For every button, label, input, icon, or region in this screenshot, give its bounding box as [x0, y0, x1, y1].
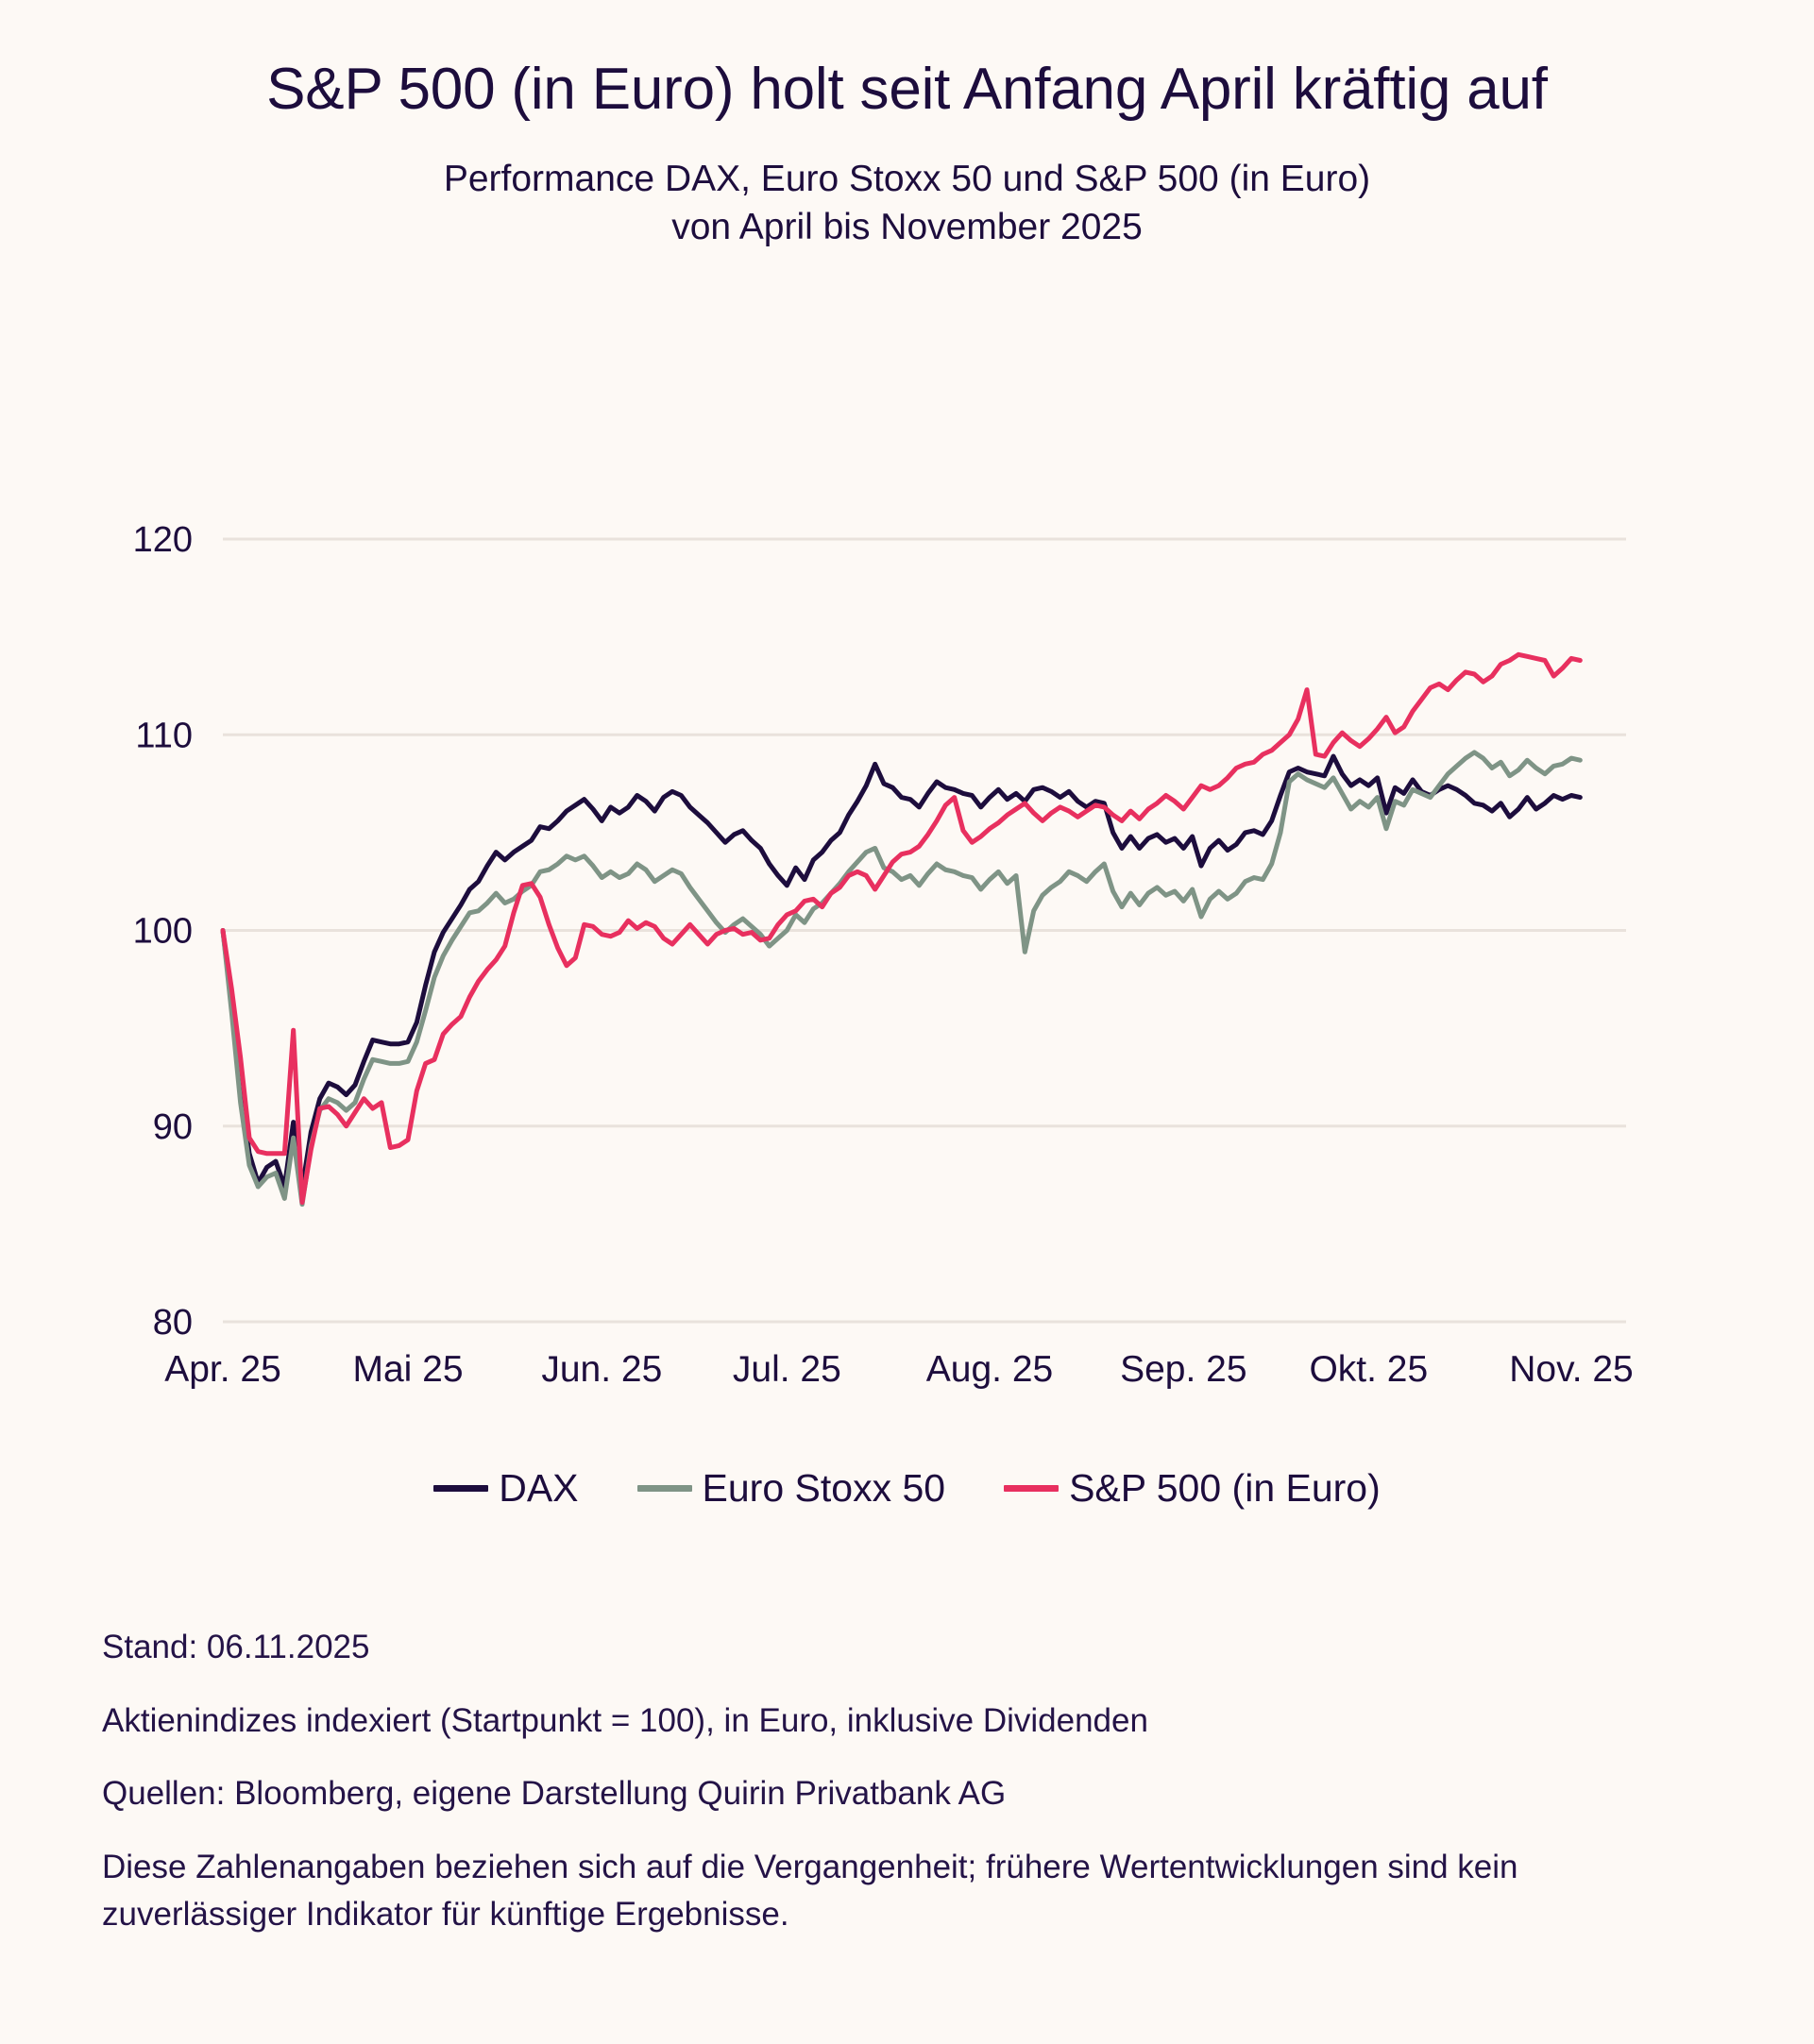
chart-plot-area: 8090100110120 Apr. 25Mai 25Jun. 25Jul. 2… — [0, 472, 1814, 1426]
legend-item-label: Euro Stoxx 50 — [703, 1469, 946, 1508]
legend-item-label: DAX — [499, 1469, 578, 1508]
x-axis-tick-label: Okt. 25 — [1309, 1349, 1428, 1390]
series-line-s-p-500-in-euro — [223, 654, 1580, 1202]
x-axis-tick-label: Jul. 25 — [733, 1349, 841, 1390]
footnote-line: Aktienindizes indexiert (Startpunkt = 10… — [102, 1698, 1556, 1745]
x-axis-tick-label: Aug. 25 — [926, 1349, 1053, 1390]
footnote-line: Stand: 06.11.2025 — [102, 1624, 1556, 1671]
chart-subtitle: Performance DAX, Euro Stoxx 50 und S&P 5… — [237, 156, 1578, 251]
chart-subtitle-line-1: Performance DAX, Euro Stoxx 50 und S&P 5… — [237, 156, 1578, 204]
legend-color-swatch-icon — [433, 1485, 488, 1492]
x-axis-tick-label: Jun. 25 — [541, 1349, 662, 1390]
y-axis-tick-label: 100 — [133, 912, 193, 952]
y-axis-tick-label: 120 — [133, 520, 193, 560]
footnote-line: Diese Zahlenangaben beziehen sich auf di… — [102, 1844, 1556, 1937]
x-axis-tick-label: Sep. 25 — [1120, 1349, 1246, 1390]
chart-footnotes: Stand: 06.11.2025Aktienindizes indexiert… — [102, 1624, 1707, 1937]
x-axis-tick-label: Nov. 25 — [1509, 1349, 1634, 1390]
y-axis-tick-label: 90 — [153, 1107, 193, 1147]
legend-item[interactable]: S&P 500 (in Euro) — [1004, 1469, 1381, 1508]
legend-color-swatch-icon — [637, 1485, 692, 1492]
y-axis-tick-labels: 8090100110120 — [133, 520, 193, 1343]
line-chart-svg: 8090100110120 Apr. 25Mai 25Jun. 25Jul. 2… — [0, 472, 1814, 1426]
y-axis-tick-label: 110 — [135, 716, 193, 755]
footnote-line: Quellen: Bloomberg, eigene Darstellung Q… — [102, 1770, 1556, 1817]
x-axis-tick-label: Mai 25 — [352, 1349, 463, 1390]
legend-item[interactable]: DAX — [433, 1469, 578, 1508]
page-title: S&P 500 (in Euro) holt seit Anfang April… — [190, 55, 1625, 124]
chart-legend: DAXEuro Stoxx 50S&P 500 (in Euro) — [0, 1469, 1814, 1508]
y-axis-tick-label: 80 — [153, 1303, 193, 1343]
gridlines-group — [223, 539, 1626, 1322]
legend-item-label: S&P 500 (in Euro) — [1069, 1469, 1381, 1508]
x-axis-tick-label: Apr. 25 — [164, 1349, 281, 1390]
series-line-dax — [223, 756, 1580, 1189]
chart-header: S&P 500 (in Euro) holt seit Anfang April… — [0, 55, 1814, 252]
legend-color-swatch-icon — [1004, 1485, 1059, 1492]
x-axis-tick-labels: Apr. 25Mai 25Jun. 25Jul. 25Aug. 25Sep. 2… — [164, 1349, 1634, 1390]
chart-subtitle-line-2: von April bis November 2025 — [237, 204, 1578, 252]
legend-item[interactable]: Euro Stoxx 50 — [637, 1469, 946, 1508]
chart-page: S&P 500 (in Euro) holt seit Anfang April… — [0, 0, 1814, 2044]
